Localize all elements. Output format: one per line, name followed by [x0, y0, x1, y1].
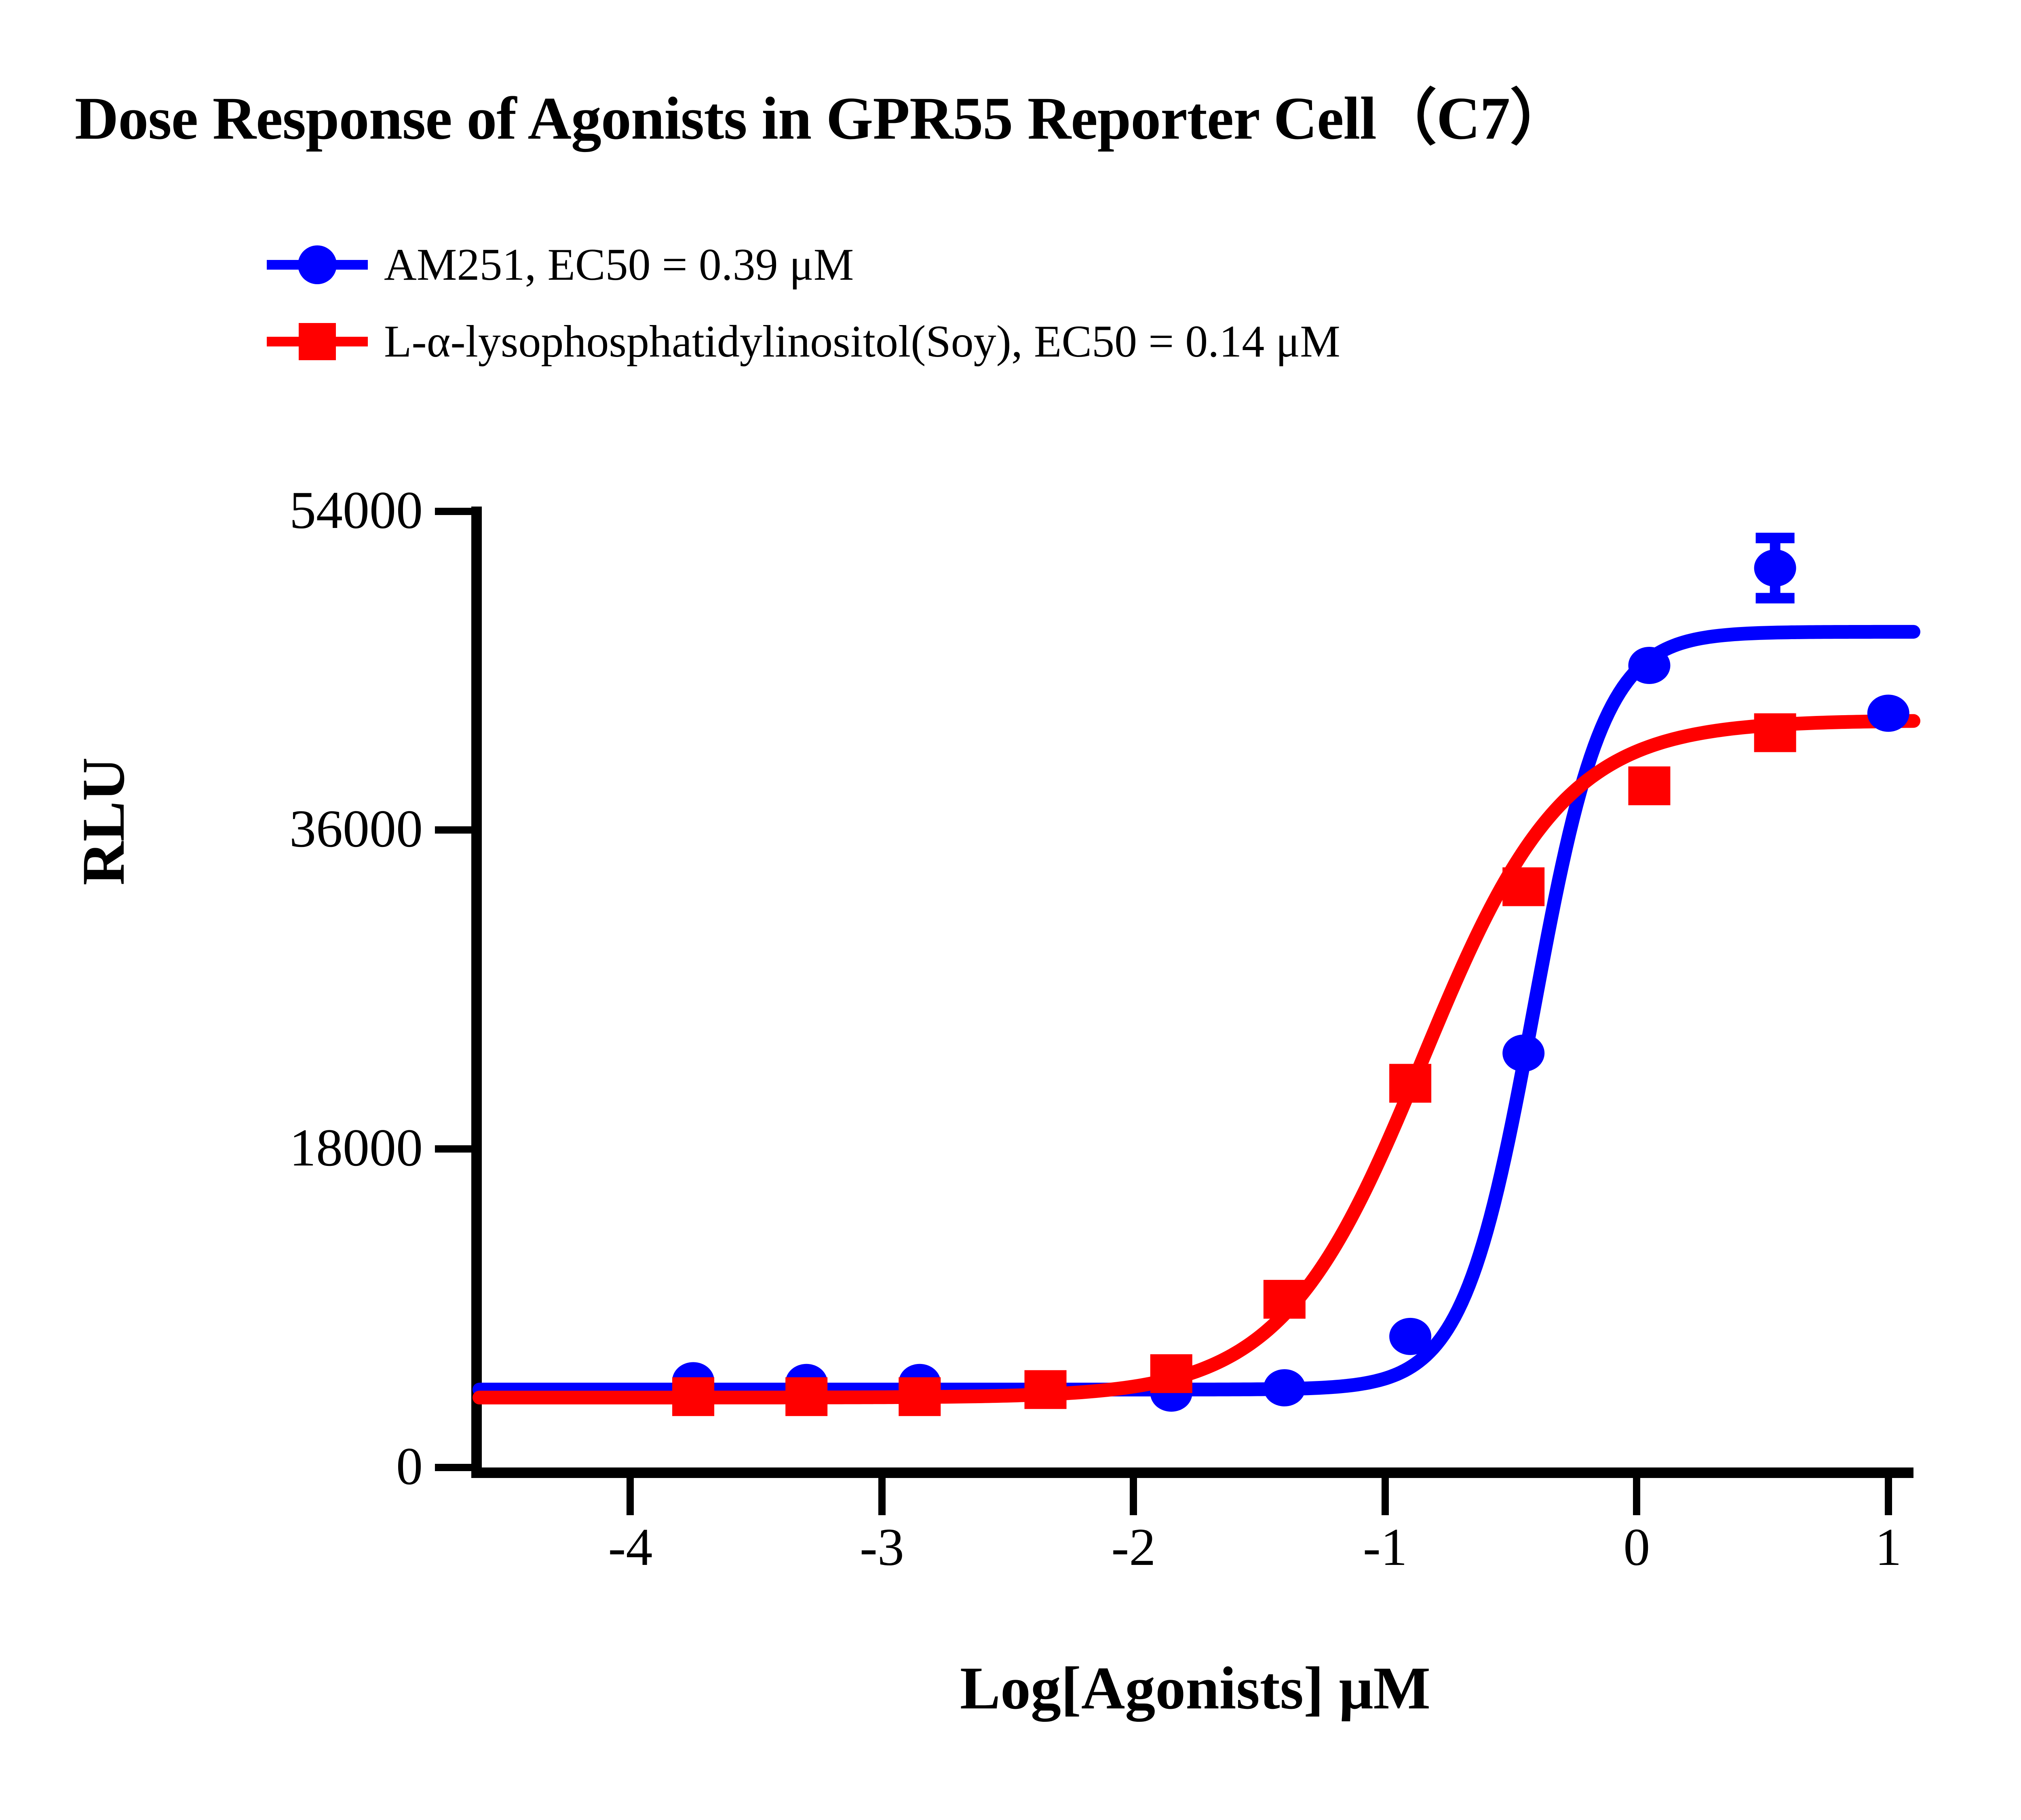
data-point-marker [785, 1377, 827, 1416]
data-point-marker [1502, 1035, 1544, 1072]
page-title: Dose Response of Agonists in GPR55 Repor… [75, 69, 1570, 156]
data-point-marker [1264, 1369, 1306, 1406]
x-axis-tick [878, 1478, 886, 1515]
x-axis-tick [1130, 1478, 1137, 1515]
y-axis-tick [435, 826, 472, 834]
data-point-marker [1150, 1354, 1192, 1393]
data-point-marker [1389, 1318, 1431, 1355]
data-point-marker [899, 1377, 941, 1416]
legend-label-am251: AM251, EC50 = 0.39 μM [384, 239, 854, 291]
data-point-marker [1754, 549, 1796, 587]
x-axis-title: Log[Agonists] μM [0, 1653, 2021, 1723]
square-marker-icon [299, 323, 336, 360]
plot-area: 0180003600054000-4-3-2-101 [479, 511, 1913, 1467]
legend-item-am251: AM251, EC50 = 0.39 μM [267, 226, 1340, 303]
x-axis-tick [1885, 1478, 1892, 1515]
legend-item-lpi: L-α-lysophosphatidylinositol(Soy), EC50 … [267, 303, 1340, 380]
data-point-marker [1628, 766, 1670, 805]
circle-marker-icon [298, 245, 337, 284]
data-point-marker [1264, 1280, 1306, 1319]
x-tick-label: -3 [860, 1516, 904, 1578]
y-axis-tick [435, 508, 472, 515]
x-axis-line [471, 1467, 1913, 1478]
x-axis-tick [627, 1478, 634, 1515]
y-tick-label: 0 [59, 1435, 423, 1497]
y-axis-tick [435, 1464, 472, 1471]
data-point-marker [1025, 1370, 1067, 1409]
series-lpi [672, 713, 1796, 1416]
data-point-marker [672, 1377, 714, 1416]
x-tick-label: 1 [1875, 1516, 1902, 1578]
x-axis-tick [1382, 1478, 1389, 1515]
data-point-marker [1867, 695, 1909, 732]
legend-label-lpi: L-α-lysophosphatidylinositol(Soy), EC50 … [384, 316, 1340, 368]
data-point-marker [1754, 713, 1796, 752]
legend-key-am251 [267, 245, 368, 285]
data-point-marker [1502, 867, 1544, 906]
legend-key-lpi [267, 321, 368, 362]
chart-root: Dose Response of Agonists in GPR55 Repor… [0, 0, 2021, 1820]
x-tick-label: -1 [1363, 1516, 1407, 1578]
x-axis-tick [1633, 1478, 1640, 1515]
data-point-marker [1389, 1064, 1431, 1103]
fit-curve [479, 632, 1913, 1389]
fit-curve [479, 721, 1913, 1398]
y-tick-label: 54000 [59, 479, 423, 541]
y-axis-tick [435, 1145, 472, 1153]
legend: AM251, EC50 = 0.39 μM L-α-lysophosphatid… [267, 226, 1340, 380]
x-tick-label: -4 [608, 1516, 652, 1578]
y-tick-label: 36000 [59, 798, 423, 859]
data-curves [479, 511, 1913, 1467]
x-tick-label: 0 [1623, 1516, 1650, 1578]
data-point-marker [1628, 647, 1670, 684]
y-tick-label: 18000 [59, 1117, 423, 1178]
x-tick-label: -2 [1111, 1516, 1156, 1578]
